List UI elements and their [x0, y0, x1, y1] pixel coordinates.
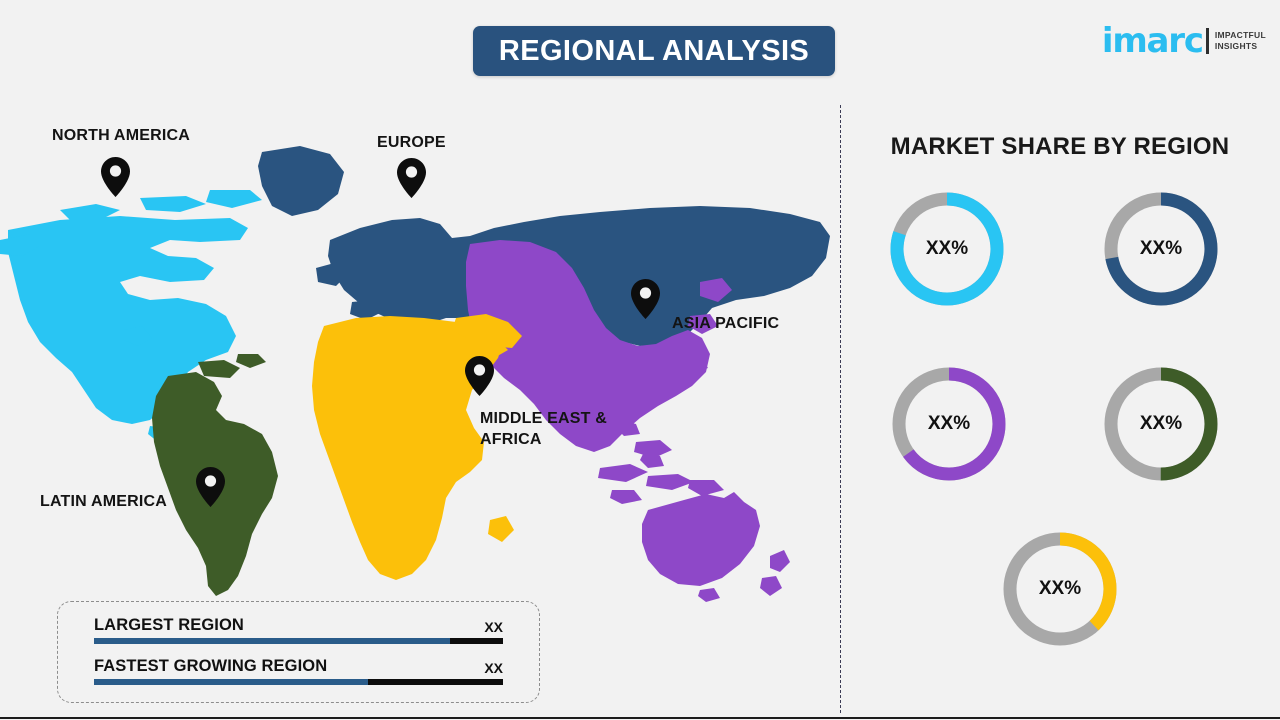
donut-chart-middle-east-africa: XX% — [999, 528, 1121, 650]
donut-chart-north-america: XX% — [886, 188, 1008, 310]
chart-panel-title: MARKET SHARE BY REGION — [840, 133, 1280, 161]
infographic-canvas: REGIONAL ANALYSIS imarc IMPACTFUL INSIGH… — [0, 0, 1280, 720]
donut-value-label: XX% — [1100, 363, 1222, 485]
legend-value: XX — [484, 660, 503, 676]
map-label-north-america: NORTH AMERICA — [52, 125, 190, 146]
donut-value-label: XX% — [888, 363, 1010, 485]
legend-progress-track — [94, 679, 503, 685]
logo-tagline: IMPACTFUL INSIGHTS — [1215, 30, 1266, 52]
legend-head: FASTEST GROWING REGION XX — [94, 657, 503, 676]
region-greenland — [258, 146, 344, 216]
panel-divider — [840, 105, 841, 713]
page-title-banner: REGIONAL ANALYSIS — [473, 26, 835, 76]
legend-head: LARGEST REGION XX — [94, 616, 503, 635]
logo-tagline-line1: IMPACTFUL — [1215, 30, 1266, 41]
legend-progress-track — [94, 638, 503, 644]
brand-logo: imarc IMPACTFUL INSIGHTS — [1102, 24, 1266, 58]
map-pin-middle-east-africa-icon[interactable] — [465, 356, 494, 401]
map-label-europe: EUROPE — [377, 132, 446, 153]
map-pin-asia-pacific-icon[interactable] — [631, 279, 660, 324]
legend-value: XX — [484, 619, 503, 635]
map-label-middle-east-africa: MIDDLE EAST & AFRICA — [480, 408, 607, 450]
donut-value-label: XX% — [886, 188, 1008, 310]
legend-label: FASTEST GROWING REGION — [94, 657, 327, 676]
donut-chart-asia-pacific: XX% — [888, 363, 1010, 485]
legend-row-largest-region: LARGEST REGION XX — [94, 616, 503, 644]
donut-chart-europe: XX% — [1100, 188, 1222, 310]
donut-chart-latin-america: XX% — [1100, 363, 1222, 485]
map-label-asia-pacific: ASIA PACIFIC — [672, 313, 779, 334]
logo-divider-icon — [1206, 28, 1209, 54]
map-label-latin-america: LATIN AMERICA — [40, 491, 167, 512]
logo-tagline-line2: INSIGHTS — [1215, 41, 1266, 52]
logo-wordmark: imarc — [1102, 26, 1203, 56]
bottom-rule — [0, 717, 1280, 719]
map-pin-north-america-icon[interactable] — [101, 157, 130, 202]
legend-progress-fill — [94, 638, 450, 644]
legend-box: LARGEST REGION XX FASTEST GROWING REGION… — [57, 601, 540, 703]
legend-progress-fill — [94, 679, 368, 685]
map-pin-latin-america-icon[interactable] — [196, 467, 225, 512]
map-pin-europe-icon[interactable] — [397, 158, 426, 203]
donut-value-label: XX% — [999, 528, 1121, 650]
legend-label: LARGEST REGION — [94, 616, 244, 635]
legend-row-fastest-growing-region: FASTEST GROWING REGION XX — [94, 657, 503, 685]
page-title: REGIONAL ANALYSIS — [499, 35, 809, 68]
donut-value-label: XX% — [1100, 188, 1222, 310]
